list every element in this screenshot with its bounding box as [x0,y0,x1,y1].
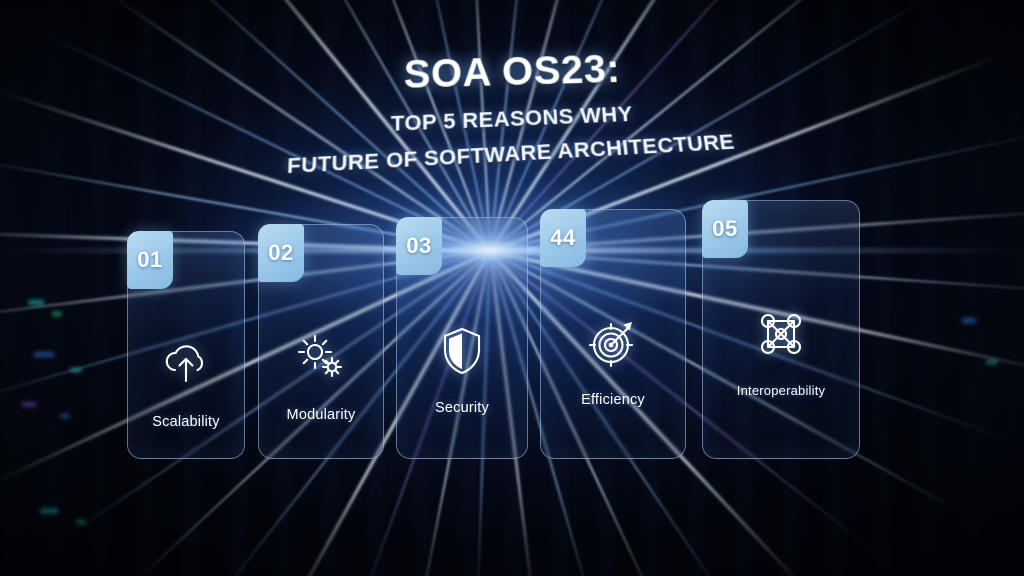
card-number-text: 05 [712,216,737,242]
card-label: Scalability [128,414,244,430]
card-label: Modularity [259,407,383,423]
card-label: Efficiency [541,392,685,408]
card-number-text: 03 [406,233,431,259]
reason-card-05[interactable]: 05Interoperability [702,200,860,459]
target-arrow-icon [541,318,685,368]
network-nodes-icon [703,309,859,359]
card-number-badge: 05 [702,200,748,258]
card-number-badge: 03 [396,217,442,275]
reason-card-03[interactable]: 03Security [396,217,528,459]
card-label: Security [397,400,527,416]
reason-card-44[interactable]: 44Efficiency [540,209,686,459]
gears-icon [259,333,383,381]
reason-card-01[interactable]: 01Scalability [127,231,245,459]
light-ray [100,0,491,252]
card-number-text: 01 [137,247,162,273]
card-label: Interoperability [703,383,859,398]
card-number-text: 02 [268,240,293,266]
card-number-badge: 01 [127,231,173,289]
card-number-badge: 02 [258,224,304,282]
infographic-canvas: SOA OS23: TOP 5 REASONS WHY FUTURE OF SO… [0,0,1024,576]
shield-icon [397,326,527,376]
card-number-text: 44 [550,225,575,251]
card-number-badge: 44 [540,209,586,267]
reason-card-02[interactable]: 02Modularity [258,224,384,459]
cloud-upload-icon [128,340,244,386]
